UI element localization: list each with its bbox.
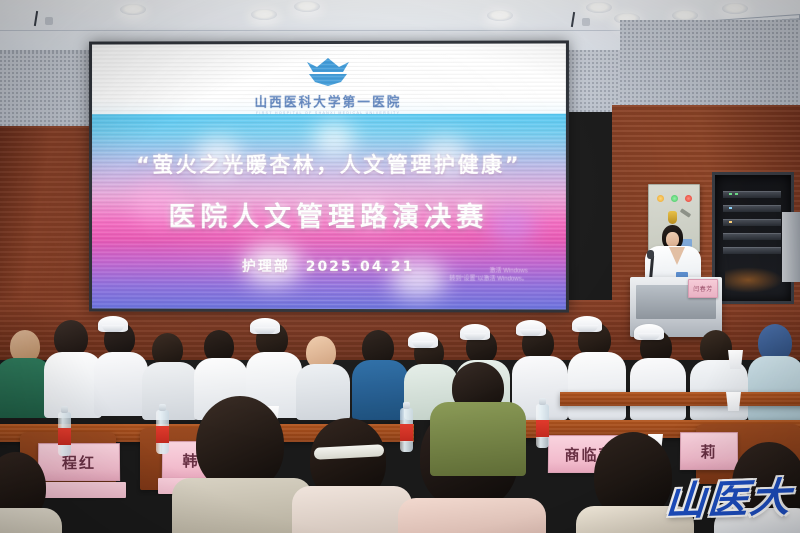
audience-table [560, 392, 800, 406]
podium-nameplate: 闫春芳 [688, 279, 718, 298]
speaker-face [666, 232, 679, 247]
nurse-cap-icon [460, 324, 490, 340]
panel-switch[interactable] [680, 208, 691, 217]
water-bottle [156, 410, 169, 454]
rack-status-led [735, 193, 738, 195]
water-bottle [400, 408, 413, 452]
rack-status-led [729, 207, 732, 209]
ceiling-downlight [722, 3, 748, 14]
rack-unit [723, 233, 781, 240]
audience-body [0, 508, 62, 533]
nurse-cap-icon [408, 332, 438, 348]
hospital-open-book-icon [301, 56, 355, 88]
rack-status-led [729, 221, 732, 223]
windows-activation-line2: 转到“设置”以激活 Windows。 [449, 275, 527, 284]
audience-body [430, 402, 526, 476]
water-bottle [58, 412, 71, 456]
audience-body [398, 498, 546, 533]
audience-body [172, 478, 312, 533]
audience-body [142, 362, 198, 420]
ceiling-downlight [487, 10, 513, 21]
door-frame[interactable] [782, 212, 800, 282]
slide-slogan: “萤火之光暖杏林，人文管理护健康” [92, 149, 566, 179]
nurse-cap-icon [250, 318, 280, 334]
bottle-label [536, 420, 549, 437]
audience-body [690, 360, 748, 420]
hospital-name-cn: 山西医科大学第一医院 [255, 90, 402, 110]
indicator-light-green [671, 195, 678, 202]
hospital-logo: 山西医科大学第一医院 FIRST HOSPITAL OF SHANXI MEDI… [92, 55, 566, 115]
acoustic-panel-left [0, 52, 100, 136]
rack-interior-glow [725, 267, 783, 293]
bottle-label [400, 424, 413, 441]
slide-department: 护理部 [242, 259, 290, 275]
nurse-cap-icon [516, 320, 546, 336]
coat-neckline [669, 247, 685, 265]
water-bottle [536, 404, 549, 448]
ceiling-downlight [586, 2, 612, 13]
indicator-light-amber [657, 195, 664, 202]
desk-paper [34, 482, 126, 498]
desk-nameplate-text: 莉 [700, 441, 717, 462]
microphone-icon [647, 250, 654, 259]
ceiling-downlight [294, 1, 320, 12]
paper-cup [728, 350, 743, 369]
ceiling-downlight [251, 9, 277, 20]
audience-body [292, 486, 412, 533]
hospital-name-en: FIRST HOSPITAL OF SHANXI MEDICAL UNIVERS… [256, 111, 400, 115]
rack-status-led [729, 193, 732, 195]
ceiling-speaker-icon [45, 17, 53, 25]
ceiling-downlight [120, 4, 146, 15]
audience-body [568, 352, 626, 420]
photo-watermark: 山医大 [664, 465, 794, 527]
desk-nameplate: 莉 [680, 432, 738, 470]
nurse-cap-icon [98, 316, 128, 332]
indicator-light-red [685, 195, 692, 202]
slide-main-title: 医院人文管理路演决赛 [92, 195, 566, 234]
audience-body [296, 364, 350, 420]
ceiling-speaker-icon [582, 18, 590, 26]
led-display-frame: 山西医科大学第一医院 FIRST HOSPITAL OF SHANXI MEDI… [89, 40, 569, 312]
windows-activation-watermark: 激活 Windows 转到“设置”以激活 Windows。 [449, 267, 527, 285]
desk-nameplate: 程红 [38, 443, 120, 481]
audience-body [748, 356, 800, 422]
bottle-label [58, 428, 71, 445]
paper-cup [726, 392, 741, 411]
nurse-cap-icon [634, 324, 664, 340]
conference-hall-photo: 山西医科大学第一医院 FIRST HOSPITAL OF SHANXI MEDI… [0, 0, 800, 533]
podium-nameplate-text: 闫春芳 [693, 284, 713, 293]
panel-knob[interactable] [668, 211, 677, 224]
rack-unit [723, 247, 781, 254]
windows-activation-line1: 激活 Windows [449, 267, 527, 276]
bottle-label [156, 426, 169, 443]
audience-body [94, 352, 148, 416]
acoustic-panel-right [620, 20, 800, 110]
led-display-screen: 山西医科大学第一医院 FIRST HOSPITAL OF SHANXI MEDI… [92, 43, 566, 309]
slide-date: 2025.04.21 [306, 259, 415, 275]
audience-body [630, 358, 686, 420]
nurse-cap-icon [572, 316, 602, 332]
